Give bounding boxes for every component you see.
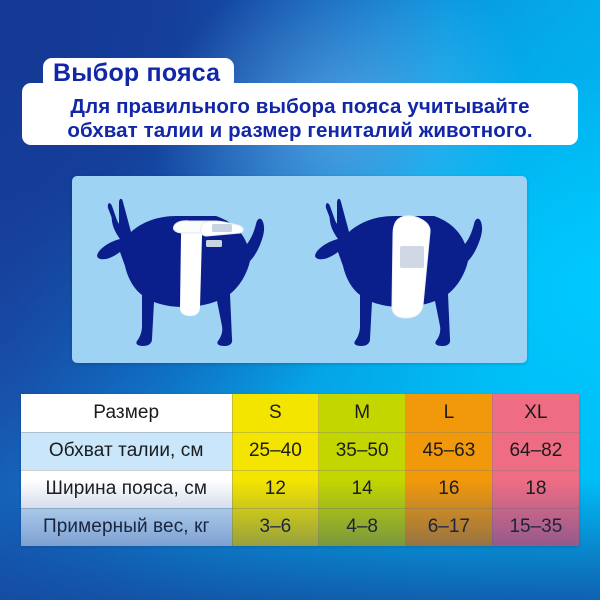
belt-width-m: 14 — [319, 470, 406, 508]
waist-xl: 64–82 — [492, 432, 579, 470]
row-label-waist: Обхват талии, см — [21, 432, 232, 470]
infographic-page: Выбор пояса Для правильного выбора пояса… — [0, 0, 600, 600]
table-header-size-l: L — [406, 394, 493, 432]
weight-xl: 15–35 — [492, 508, 579, 546]
weight-m: 4–8 — [319, 508, 406, 546]
waist-l: 45–63 — [406, 432, 493, 470]
table-header-label: Размер — [21, 394, 232, 432]
page-title: Выбор пояса — [53, 60, 220, 87]
dog-illustration-right — [294, 176, 526, 363]
belt-width-s: 12 — [232, 470, 319, 508]
row-label-belt-width: Ширина пояса, см — [21, 470, 232, 508]
table-row-weight: Примерный вес, кг 3–6 4–8 6–17 15–35 — [21, 508, 579, 546]
table-row-waist: Обхват талии, см 25–40 35–50 45–63 64–82 — [21, 432, 579, 470]
weight-l: 6–17 — [406, 508, 493, 546]
row-label-weight: Примерный вес, кг — [21, 508, 232, 546]
table-row-belt-width: Ширина пояса, см 12 14 16 18 — [21, 470, 579, 508]
waist-s: 25–40 — [232, 432, 319, 470]
weight-s: 3–6 — [232, 508, 319, 546]
subtitle-panel: Для правильного выбора пояса учитывайте … — [22, 83, 578, 145]
size-table: Размер S M L XL Обхват талии, см 25–40 3… — [21, 394, 579, 546]
table-header-size-m: M — [319, 394, 406, 432]
belt-width-l: 16 — [406, 470, 493, 508]
waist-m: 35–50 — [319, 432, 406, 470]
illustration-panel — [72, 176, 527, 363]
table-header-size-s: S — [232, 394, 319, 432]
subtitle-line-2: обхват талии и размер гениталий животног… — [30, 119, 570, 143]
table-row-header: Размер S M L XL — [21, 394, 579, 432]
subtitle-line-1: Для правильного выбора пояса учитывайте — [30, 95, 570, 119]
dog-illustration-left — [76, 176, 301, 363]
page-title-badge: Выбор пояса — [43, 58, 234, 90]
table-header-size-xl: XL — [492, 394, 579, 432]
belt-width-xl: 18 — [492, 470, 579, 508]
